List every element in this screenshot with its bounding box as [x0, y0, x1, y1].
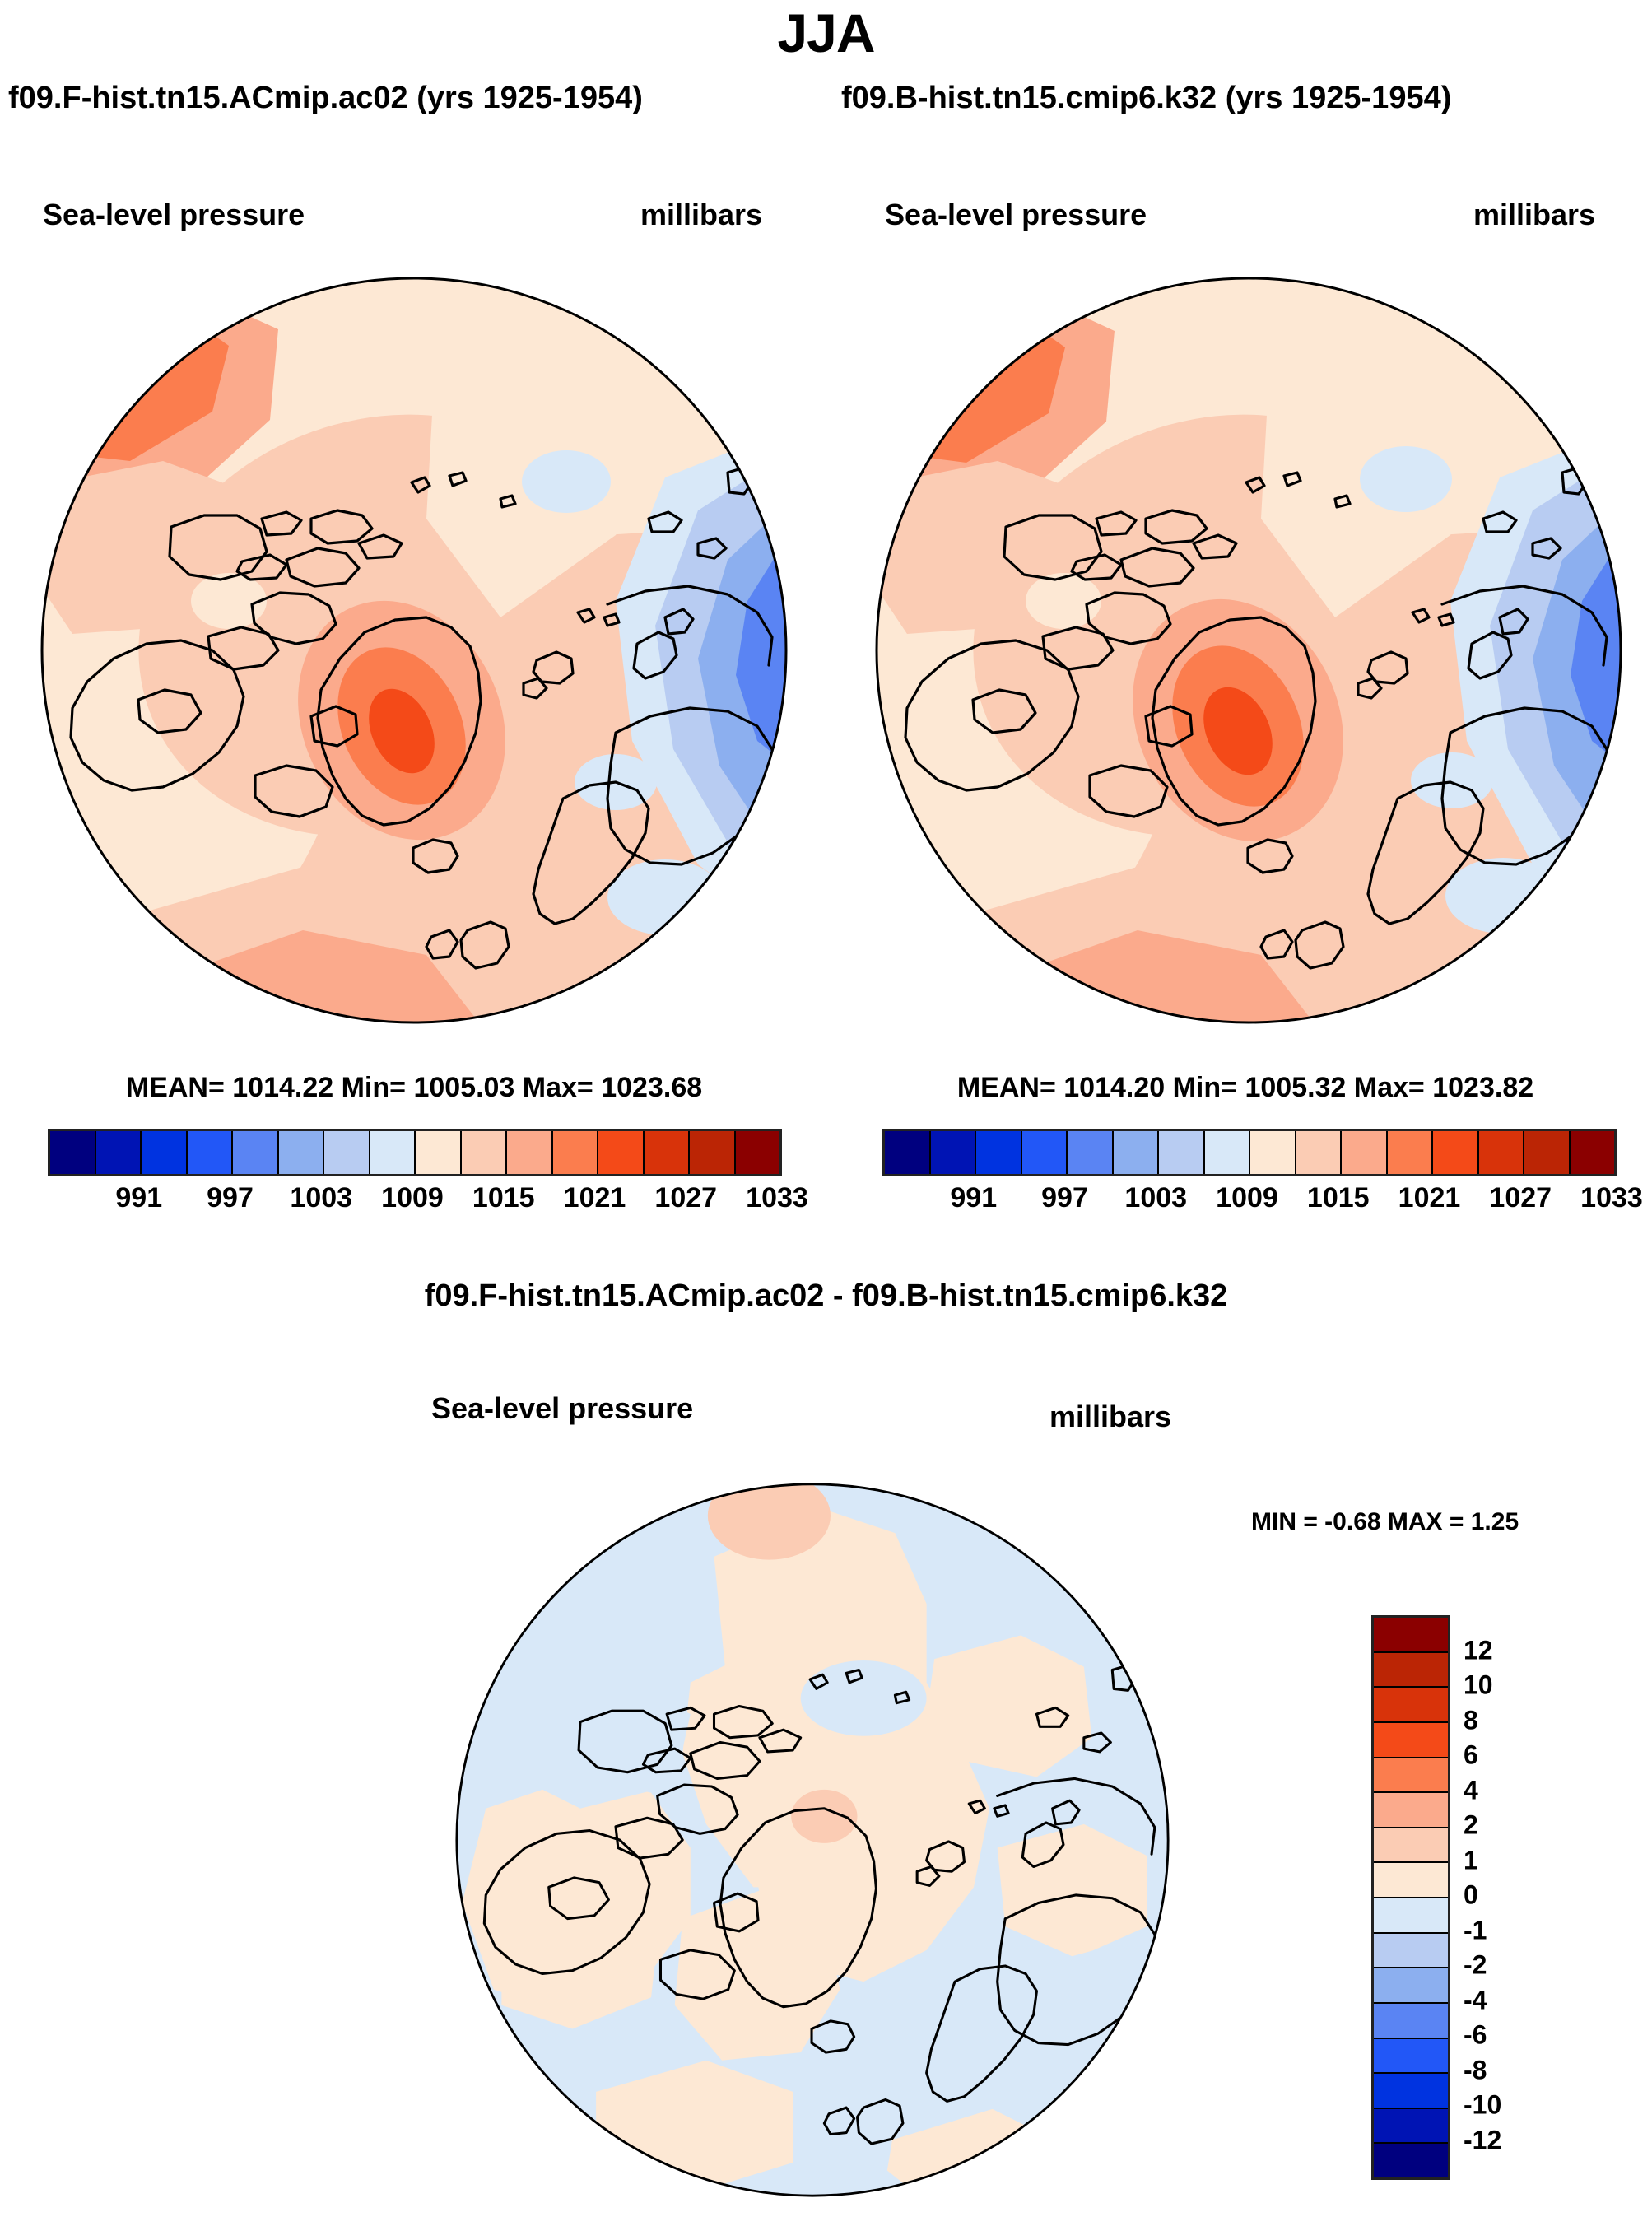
- difference-colorbar-swatch: [1374, 2004, 1448, 2039]
- difference-colorbar-tick-label: -4: [1464, 1985, 1487, 2015]
- difference-colorbar-tick-label: -1: [1464, 1915, 1487, 1945]
- difference-colorbar-tick-label: -6: [1464, 2020, 1487, 2051]
- left-colorbar-ticks: 991997100310091015102110271033: [48, 1182, 777, 1218]
- colorbar-swatch: [1296, 1131, 1343, 1174]
- difference-colorbar-swatch: [1374, 1934, 1448, 1969]
- difference-colorbar-swatch: [1374, 2144, 1448, 2177]
- left-panel-stats: MEAN= 1014.22 Min= 1005.03 Max= 1023.68: [0, 1072, 828, 1104]
- right-panel-map: [874, 272, 1623, 1029]
- colorbar-swatch: [645, 1131, 691, 1174]
- difference-colorbar-tick-label: -12: [1464, 2125, 1501, 2155]
- colorbar-tick-label: 1003: [1124, 1182, 1187, 1214]
- colorbar-swatch: [462, 1131, 508, 1174]
- colorbar-tick-label: 1021: [564, 1182, 626, 1214]
- difference-colorbar-tick-label: 4: [1464, 1775, 1478, 1805]
- difference-colorbar-swatch: [1374, 1863, 1448, 1898]
- colorbar-tick-label: 991: [950, 1182, 997, 1214]
- colorbar-swatch: [507, 1131, 553, 1174]
- colorbar-swatch: [1479, 1131, 1525, 1174]
- colorbar-swatch: [279, 1131, 325, 1174]
- colorbar-tick-label: 1015: [1307, 1182, 1370, 1214]
- colorbar-swatch: [976, 1131, 1022, 1174]
- difference-minmax: MIN = -0.68 MAX = 1.25: [1251, 1508, 1519, 1536]
- colorbar-swatch: [188, 1131, 234, 1174]
- colorbar-swatch: [1068, 1131, 1114, 1174]
- colorbar-swatch: [1250, 1131, 1296, 1174]
- difference-colorbar-tick-label: 12: [1464, 1635, 1493, 1665]
- difference-colorbar-tick-label: 1: [1464, 1845, 1478, 1875]
- colorbar-tick-label: 1033: [746, 1182, 808, 1214]
- colorbar-swatch: [690, 1131, 736, 1174]
- colorbar-tick-label: 1009: [381, 1182, 444, 1214]
- difference-colorbar-swatch: [1374, 2039, 1448, 2075]
- colorbar-tick-label: 991: [115, 1182, 162, 1214]
- difference-colorbar-swatch: [1374, 1723, 1448, 1758]
- difference-colorbar-ticks: 1210864210-1-2-4-6-8-10-12: [1464, 1615, 1579, 2175]
- colorbar-swatch: [1433, 1131, 1479, 1174]
- colorbar-swatch: [931, 1131, 977, 1174]
- colorbar-swatch: [1022, 1131, 1068, 1174]
- difference-map: [454, 1474, 1170, 2206]
- colorbar-swatch: [736, 1131, 780, 1174]
- difference-colorbar-swatch: [1374, 1618, 1448, 1653]
- right-colorbar: [882, 1129, 1617, 1176]
- colorbar-swatch: [598, 1131, 645, 1174]
- colorbar-tick-label: 1009: [1216, 1182, 1278, 1214]
- colorbar-swatch: [370, 1131, 416, 1174]
- colorbar-swatch: [96, 1131, 142, 1174]
- difference-colorbar-swatch: [1374, 1653, 1448, 1688]
- difference-colorbar-tick-label: -10: [1464, 2090, 1501, 2121]
- colorbar-swatch: [233, 1131, 279, 1174]
- main-title: JJA: [0, 2, 1652, 64]
- colorbar-swatch: [885, 1131, 931, 1174]
- difference-colorbar-swatch: [1374, 1968, 1448, 2004]
- right-colorbar-ticks: 991997100310091015102110271033: [882, 1182, 1612, 1218]
- difference-colorbar-tick-label: -8: [1464, 2055, 1487, 2085]
- difference-colorbar: [1371, 1615, 1450, 2180]
- difference-colorbar-swatch: [1374, 1793, 1448, 1828]
- colorbar-tick-label: 1003: [290, 1182, 352, 1214]
- difference-colorbar-tick-label: 2: [1464, 1810, 1478, 1841]
- difference-colorbar-tick-label: -2: [1464, 1950, 1487, 1981]
- colorbar-tick-label: 1021: [1398, 1182, 1461, 1214]
- left-panel-map: [40, 272, 789, 1029]
- difference-colorbar-tick-label: 0: [1464, 1880, 1478, 1911]
- difference-colorbar-swatch: [1374, 1898, 1448, 1934]
- left-panel-units-label: millibars: [640, 198, 762, 232]
- colorbar-swatch: [1205, 1131, 1251, 1174]
- difference-title: f09.F-hist.tn15.ACmip.ac02 - f09.B-hist.…: [0, 1279, 1652, 1314]
- colorbar-swatch: [1388, 1131, 1434, 1174]
- difference-colorbar-tick-label: 8: [1464, 1705, 1478, 1735]
- right-panel-units-label: millibars: [1473, 198, 1595, 232]
- colorbar-swatch: [1571, 1131, 1615, 1174]
- colorbar-tick-label: 1033: [1580, 1182, 1643, 1214]
- right-panel-stats: MEAN= 1014.20 Min= 1005.32 Max= 1023.82: [831, 1072, 1652, 1104]
- subtitle-right-model: f09.B-hist.tn15.cmip6.k32 (yrs 1925-1954…: [841, 81, 1451, 116]
- difference-colorbar-swatch: [1374, 1688, 1448, 1723]
- difference-colorbar-tick-label: 10: [1464, 1670, 1493, 1701]
- difference-colorbar-tick-label: 6: [1464, 1740, 1478, 1771]
- colorbar-swatch: [1524, 1131, 1571, 1174]
- left-colorbar: [48, 1129, 782, 1176]
- colorbar-swatch: [142, 1131, 188, 1174]
- difference-variable-label: Sea-level pressure: [431, 1391, 693, 1426]
- colorbar-swatch: [553, 1131, 599, 1174]
- difference-colorbar-swatch: [1374, 2109, 1448, 2145]
- colorbar-tick-label: 1027: [654, 1182, 717, 1214]
- colorbar-swatch: [1159, 1131, 1205, 1174]
- colorbar-tick-label: 1027: [1489, 1182, 1552, 1214]
- difference-colorbar-swatch: [1374, 2074, 1448, 2109]
- right-panel-variable-label: Sea-level pressure: [885, 198, 1147, 232]
- colorbar-swatch: [324, 1131, 370, 1174]
- left-panel-variable-label: Sea-level pressure: [43, 198, 305, 232]
- colorbar-swatch: [1114, 1131, 1160, 1174]
- colorbar-tick-label: 1015: [472, 1182, 535, 1214]
- colorbar-swatch: [50, 1131, 96, 1174]
- difference-colorbar-swatch: [1374, 1758, 1448, 1794]
- colorbar-tick-label: 997: [1041, 1182, 1088, 1214]
- subtitle-left-model: f09.F-hist.tn15.ACmip.ac02 (yrs 1925-195…: [8, 81, 643, 116]
- difference-colorbar-swatch: [1374, 1828, 1448, 1864]
- difference-units-label: millibars: [1049, 1400, 1171, 1434]
- colorbar-swatch: [416, 1131, 462, 1174]
- colorbar-tick-label: 997: [207, 1182, 254, 1214]
- colorbar-swatch: [1342, 1131, 1388, 1174]
